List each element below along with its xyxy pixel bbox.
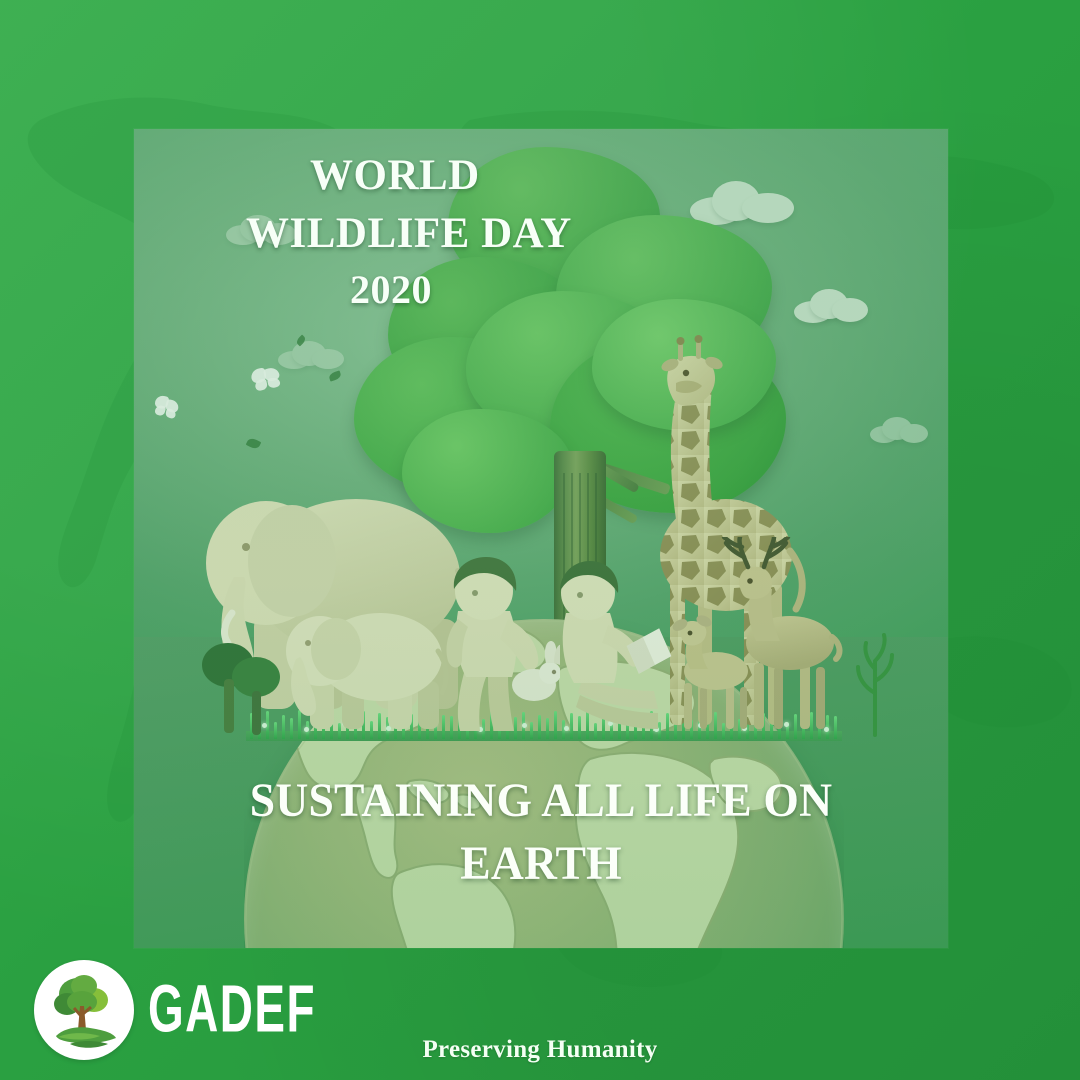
headline-line-3: 2020 — [222, 263, 762, 317]
illustration-panel: WORLD WILDLIFE DAY 2020 SUSTAINING ALL L… — [134, 129, 948, 948]
headline-text: WORLD WILDLIFE DAY 2020 — [222, 147, 762, 317]
tagline-line-2: EARTH — [154, 832, 927, 895]
footer-bar: GADEF Preserving Humanity — [0, 948, 1080, 1080]
brand-name: GADEF — [148, 977, 316, 1044]
bush-illustration — [198, 621, 290, 737]
child-left-illustration — [430, 553, 560, 735]
headline-line-2: WILDLIFE DAY — [222, 205, 762, 263]
brand-slogan: Preserving Humanity — [0, 1036, 1080, 1064]
tagline-line-1: SUSTAINING ALL LIFE ON — [250, 774, 832, 827]
poster-canvas: WORLD WILDLIFE DAY 2020 SUSTAINING ALL L… — [0, 0, 1080, 1080]
tagline-text: SUSTAINING ALL LIFE ON EARTH — [154, 769, 927, 896]
headline-line-1: WORLD — [222, 147, 762, 205]
shrub-illustration — [848, 617, 902, 737]
fawn-illustration — [654, 599, 766, 735]
